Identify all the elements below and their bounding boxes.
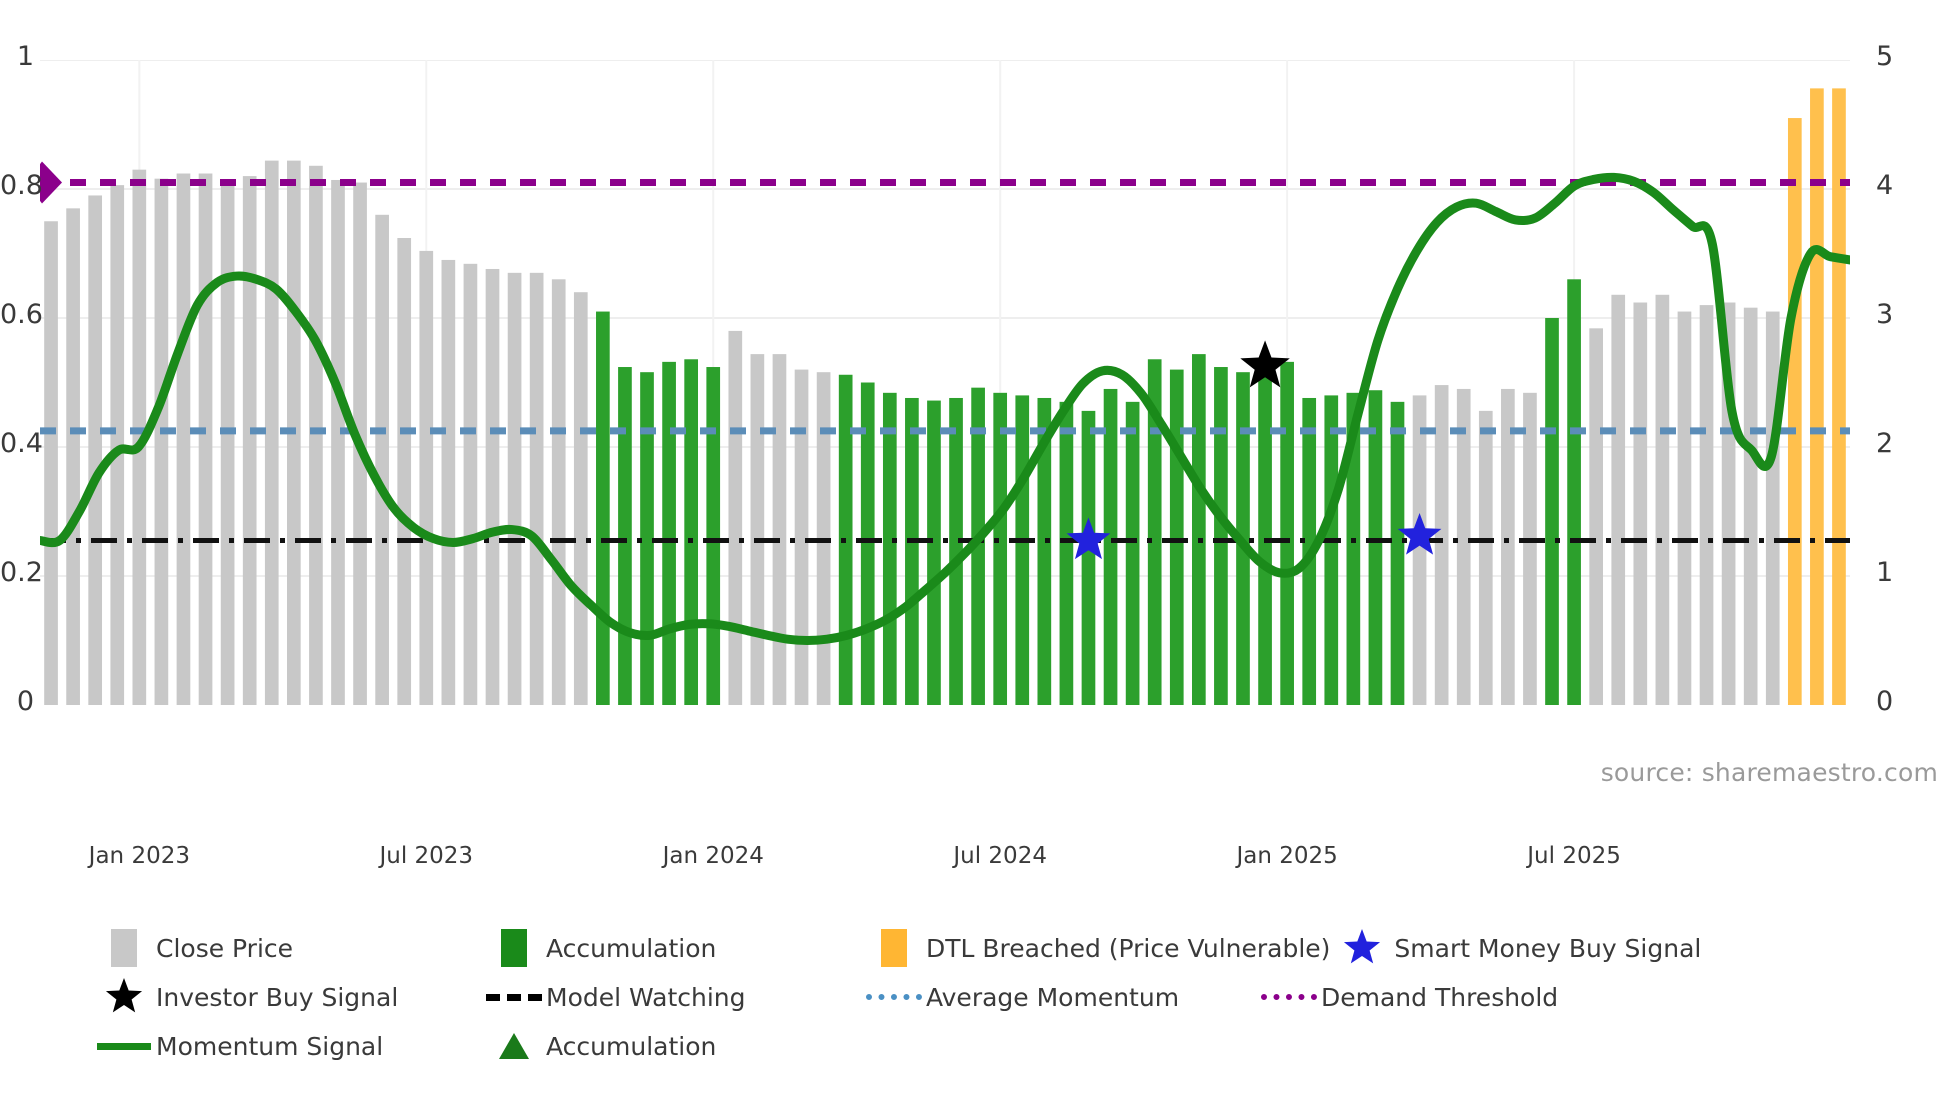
chart-svg (40, 60, 1850, 705)
legend-row: Close PriceAccumulationDTL Breached (Pri… (92, 928, 1942, 968)
y-tick-right-1: 1 (1876, 559, 1910, 586)
swatch-dotted-line-icon (866, 994, 922, 1000)
bar-close-price (1611, 295, 1625, 705)
bar-accumulation (1015, 395, 1029, 705)
swatch-rect-icon (881, 929, 907, 967)
bar-close-price (508, 273, 522, 705)
bar-close-price (1501, 389, 1515, 705)
chart-root: 10.80.60.40.20 543210 Jan 2023Jul 2023Ja… (0, 0, 1960, 1102)
legend-row: Momentum SignalAccumulation (92, 1026, 1942, 1066)
legend-label: Smart Money Buy Signal (1394, 936, 1701, 961)
bar-close-price (243, 176, 257, 705)
legend-item-investor-buy-signal[interactable]: Investor Buy Signal (92, 977, 482, 1017)
legend-label: Accumulation (546, 1034, 716, 1059)
swatch-rect-icon (501, 929, 527, 967)
legend-item-demand-threshold[interactable]: Demand Threshold (1257, 977, 1657, 1017)
x-tick-jul-2025: Jul 2025 (1484, 845, 1664, 868)
bar-accumulation (1280, 362, 1294, 705)
demand-threshold-diamond-marker (40, 162, 62, 204)
bar-close-price (773, 354, 787, 705)
bar-accumulation (927, 401, 941, 705)
legend-row: Investor Buy SignalModel WatchingAverage… (92, 977, 1942, 1017)
legend-label: Average Momentum (926, 985, 1179, 1010)
bar-accumulation (1192, 354, 1206, 705)
bar-accumulation (1170, 370, 1184, 705)
legend-label: Accumulation (546, 936, 716, 961)
bar-close-price (552, 279, 566, 705)
bar-close-price (1457, 389, 1471, 705)
bar-accumulation (905, 398, 919, 705)
bar-close-price (309, 166, 323, 705)
x-tick-jul-2023: Jul 2023 (336, 845, 516, 868)
legend-item-accumulation[interactable]: Accumulation (482, 1026, 862, 1066)
source-attribution: source: sharemaestro.com (1601, 758, 1938, 787)
bar-close-price (1656, 295, 1670, 705)
bar-close-price (728, 331, 742, 705)
bar-close-price (442, 260, 456, 705)
legend-item-average-momentum[interactable]: Average Momentum (862, 977, 1257, 1017)
plot-area (40, 60, 1850, 705)
y-tick-left-0: 0 (0, 688, 34, 715)
star-icon (104, 977, 144, 1017)
bar-close-price (795, 370, 809, 705)
bar-accumulation (1082, 411, 1096, 705)
legend-item-close-price[interactable]: Close Price (92, 928, 482, 968)
bar-close-price (66, 208, 80, 705)
bar-close-price (1479, 411, 1493, 705)
bar-accumulation (1567, 279, 1581, 705)
bar-accumulation (1324, 395, 1338, 705)
y-tick-right-0: 0 (1876, 688, 1910, 715)
y-tick-right-3: 3 (1876, 301, 1910, 328)
bar-accumulation (662, 362, 676, 705)
x-tick-jan-2025: Jan 2025 (1197, 845, 1377, 868)
bar-close-price (530, 273, 544, 705)
investor-star-swatch (92, 977, 156, 1017)
bar-close-price (265, 161, 279, 705)
accumulation-triangle-swatch (482, 1029, 546, 1063)
average-momentum-swatch (862, 994, 926, 1000)
bar-close-price (1766, 312, 1780, 705)
bar-accumulation (1391, 402, 1405, 705)
bar-close-price (1589, 328, 1603, 705)
bar-close-price (419, 251, 433, 705)
smart-money-star-swatch (1330, 928, 1394, 968)
bar-close-price (155, 179, 169, 705)
accumulation-bar-swatch (482, 929, 546, 967)
legend-label: Demand Threshold (1321, 985, 1558, 1010)
bar-close-price (199, 174, 213, 705)
bar-dtl-breached (1788, 118, 1802, 705)
legend-label: Momentum Signal (156, 1034, 383, 1059)
bar-close-price (375, 215, 389, 705)
bar-accumulation (1369, 390, 1383, 705)
star-icon (1342, 928, 1382, 968)
bar-close-price (397, 238, 411, 705)
legend-item-accumulation[interactable]: Accumulation (482, 928, 862, 968)
bar-accumulation (1104, 389, 1118, 705)
bar-accumulation (596, 312, 610, 705)
bar-close-price (1678, 312, 1692, 705)
bar-close-price (1523, 393, 1537, 705)
bar-accumulation (883, 393, 897, 705)
bar-accumulation (993, 393, 1007, 705)
legend-item-model-watching[interactable]: Model Watching (482, 977, 862, 1017)
bar-accumulation (640, 372, 654, 705)
triangle-icon (495, 1029, 533, 1063)
y-tick-right-4: 4 (1876, 172, 1910, 199)
y-tick-left-0.6: 0.6 (0, 301, 34, 328)
x-tick-jan-2024: Jan 2024 (623, 845, 803, 868)
swatch-line-icon (97, 1043, 151, 1050)
bar-close-price (1633, 303, 1647, 705)
legend-label: Investor Buy Signal (156, 985, 398, 1010)
bar-accumulation (706, 367, 720, 705)
legend-label: DTL Breached (Price Vulnerable) (926, 936, 1330, 961)
bar-close-price (574, 292, 588, 705)
dtl-breached-swatch (862, 929, 926, 967)
bar-accumulation (1060, 402, 1074, 705)
momentum-signal-swatch (92, 1043, 156, 1050)
swatch-dashed-line-icon (486, 994, 542, 1001)
bar-close-price (1435, 385, 1449, 705)
y-tick-left-1: 1 (0, 43, 34, 70)
bar-accumulation (684, 359, 698, 705)
legend-item-smart-money-buy-signal[interactable]: Smart Money Buy Signal (1330, 928, 1730, 968)
demand-threshold-swatch (1257, 994, 1321, 1000)
chart-legend: Close PriceAccumulationDTL Breached (Pri… (92, 928, 1942, 1075)
model-watching-swatch (482, 994, 546, 1001)
y-tick-left-0.2: 0.2 (0, 559, 34, 586)
bar-close-price (331, 180, 345, 705)
bar-close-price (1413, 395, 1427, 705)
x-tick-jul-2024: Jul 2024 (910, 845, 1090, 868)
x-tick-jan-2023: Jan 2023 (49, 845, 229, 868)
swatch-rect-icon (111, 929, 137, 967)
swatch-dotted-line-icon (1261, 994, 1317, 1000)
bar-close-price (44, 221, 58, 705)
legend-item-dtl-breached-price-vulnerable[interactable]: DTL Breached (Price Vulnerable) (862, 928, 1330, 968)
bar-close-price (177, 174, 191, 705)
bar-close-price (751, 354, 765, 705)
bar-close-price (486, 269, 500, 705)
y-tick-left-0.8: 0.8 (0, 172, 34, 199)
bar-close-price (221, 183, 235, 705)
bar-accumulation (618, 367, 632, 705)
legend-label: Close Price (156, 936, 293, 961)
bar-close-price (464, 264, 478, 705)
bar-close-price (88, 195, 102, 705)
y-tick-right-5: 5 (1876, 43, 1910, 70)
legend-item-momentum-signal[interactable]: Momentum Signal (92, 1026, 482, 1066)
bar-accumulation (1126, 402, 1140, 705)
y-tick-right-2: 2 (1876, 430, 1910, 457)
bar-close-price (1744, 308, 1758, 705)
bar-accumulation (1545, 318, 1559, 705)
bar-accumulation (1214, 367, 1228, 705)
bar-close-price (1700, 305, 1714, 705)
legend-label: Model Watching (546, 985, 746, 1010)
close-price-swatch (92, 929, 156, 967)
y-tick-left-0.4: 0.4 (0, 430, 34, 457)
